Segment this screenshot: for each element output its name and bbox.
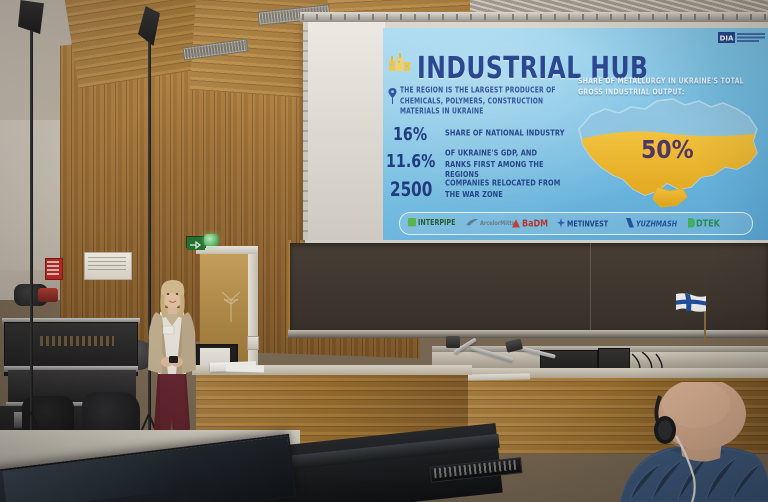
fire-extinguisher-sign-graphic xyxy=(47,261,59,275)
chalkboard-seam xyxy=(590,243,591,336)
dtek-icon xyxy=(688,218,695,228)
microphone-head xyxy=(446,336,460,348)
stat-label-1: SHARE OF NATIONAL INDUSTRY xyxy=(445,128,565,139)
chalkboard-tray xyxy=(288,330,768,338)
projection-screen-edge xyxy=(303,22,308,240)
logo-interpipe: INTERPIPE xyxy=(408,218,455,228)
metinvest-icon xyxy=(557,218,565,228)
badm-icon xyxy=(512,219,520,227)
coat-rack xyxy=(218,288,244,322)
dia-logo-icon: DIA xyxy=(718,31,766,44)
projection-screen-blank-area xyxy=(305,22,385,240)
finland-flag xyxy=(676,292,706,314)
logo-badm-label: BaDM xyxy=(522,218,548,229)
stat-value-1: 16% xyxy=(393,123,427,145)
arcelormittal-icon xyxy=(466,218,479,226)
stat-value-2: 11.6% xyxy=(386,150,435,172)
logo-yuzhmash-label: YUZHMASH xyxy=(636,219,677,229)
rack-strip xyxy=(40,336,114,346)
svg-text:DIA: DIA xyxy=(720,35,734,43)
slide-lead-text: THE REGION IS THE LARGEST PRODUCER OF CH… xyxy=(400,86,568,118)
logo-yuzhmash: YUZHMASH xyxy=(626,218,677,229)
logo-dtek-label: DTEK xyxy=(696,218,720,229)
screenshot-root: INDUSTRIAL HUB THE REGION IS THE LARGEST… xyxy=(0,0,768,502)
partner-logo-bar: INTERPIPE ArcelorMittal BaDM xyxy=(399,212,753,235)
projection-screen-rail-holes xyxy=(302,14,766,20)
stat-label-2: OF UKRAINE'S GDP, AND RANKS FIRST AMONG … xyxy=(445,148,563,180)
logo-metinvest: METINVEST xyxy=(557,218,608,229)
factory-icon xyxy=(388,52,412,72)
stat-value-3: 2500 xyxy=(390,178,432,201)
light-switch[interactable] xyxy=(247,336,259,350)
yuzhmash-icon xyxy=(626,218,634,228)
logo-arcelormittal: ArcelorMittal xyxy=(466,218,517,228)
presentation-slide: INDUSTRIAL HUB THE REGION IS THE LARGEST… xyxy=(383,28,768,240)
logo-badm: BaDM xyxy=(512,218,548,229)
wall-notice-text-lines xyxy=(88,257,126,273)
door-jamb xyxy=(248,248,258,374)
map-percent-label: 50% xyxy=(641,136,694,165)
logo-dtek: DTEK xyxy=(688,218,720,229)
seated-attendee xyxy=(620,382,768,502)
red-equipment-box xyxy=(38,288,58,302)
light-stand-pole xyxy=(30,30,33,430)
logo-interpipe-label: INTERPIPE xyxy=(418,218,455,228)
location-pin-icon xyxy=(388,88,397,104)
logo-metinvest-label: METINVEST xyxy=(567,219,608,229)
chalkboard xyxy=(290,243,768,336)
emergency-light-icon xyxy=(204,234,218,246)
papers-stack xyxy=(226,365,264,373)
stat-label-3: COMPANIES RELOCATED FROM THE WAR ZONE xyxy=(445,178,563,199)
exit-sign-icon xyxy=(186,236,206,248)
interpipe-icon xyxy=(408,218,416,226)
